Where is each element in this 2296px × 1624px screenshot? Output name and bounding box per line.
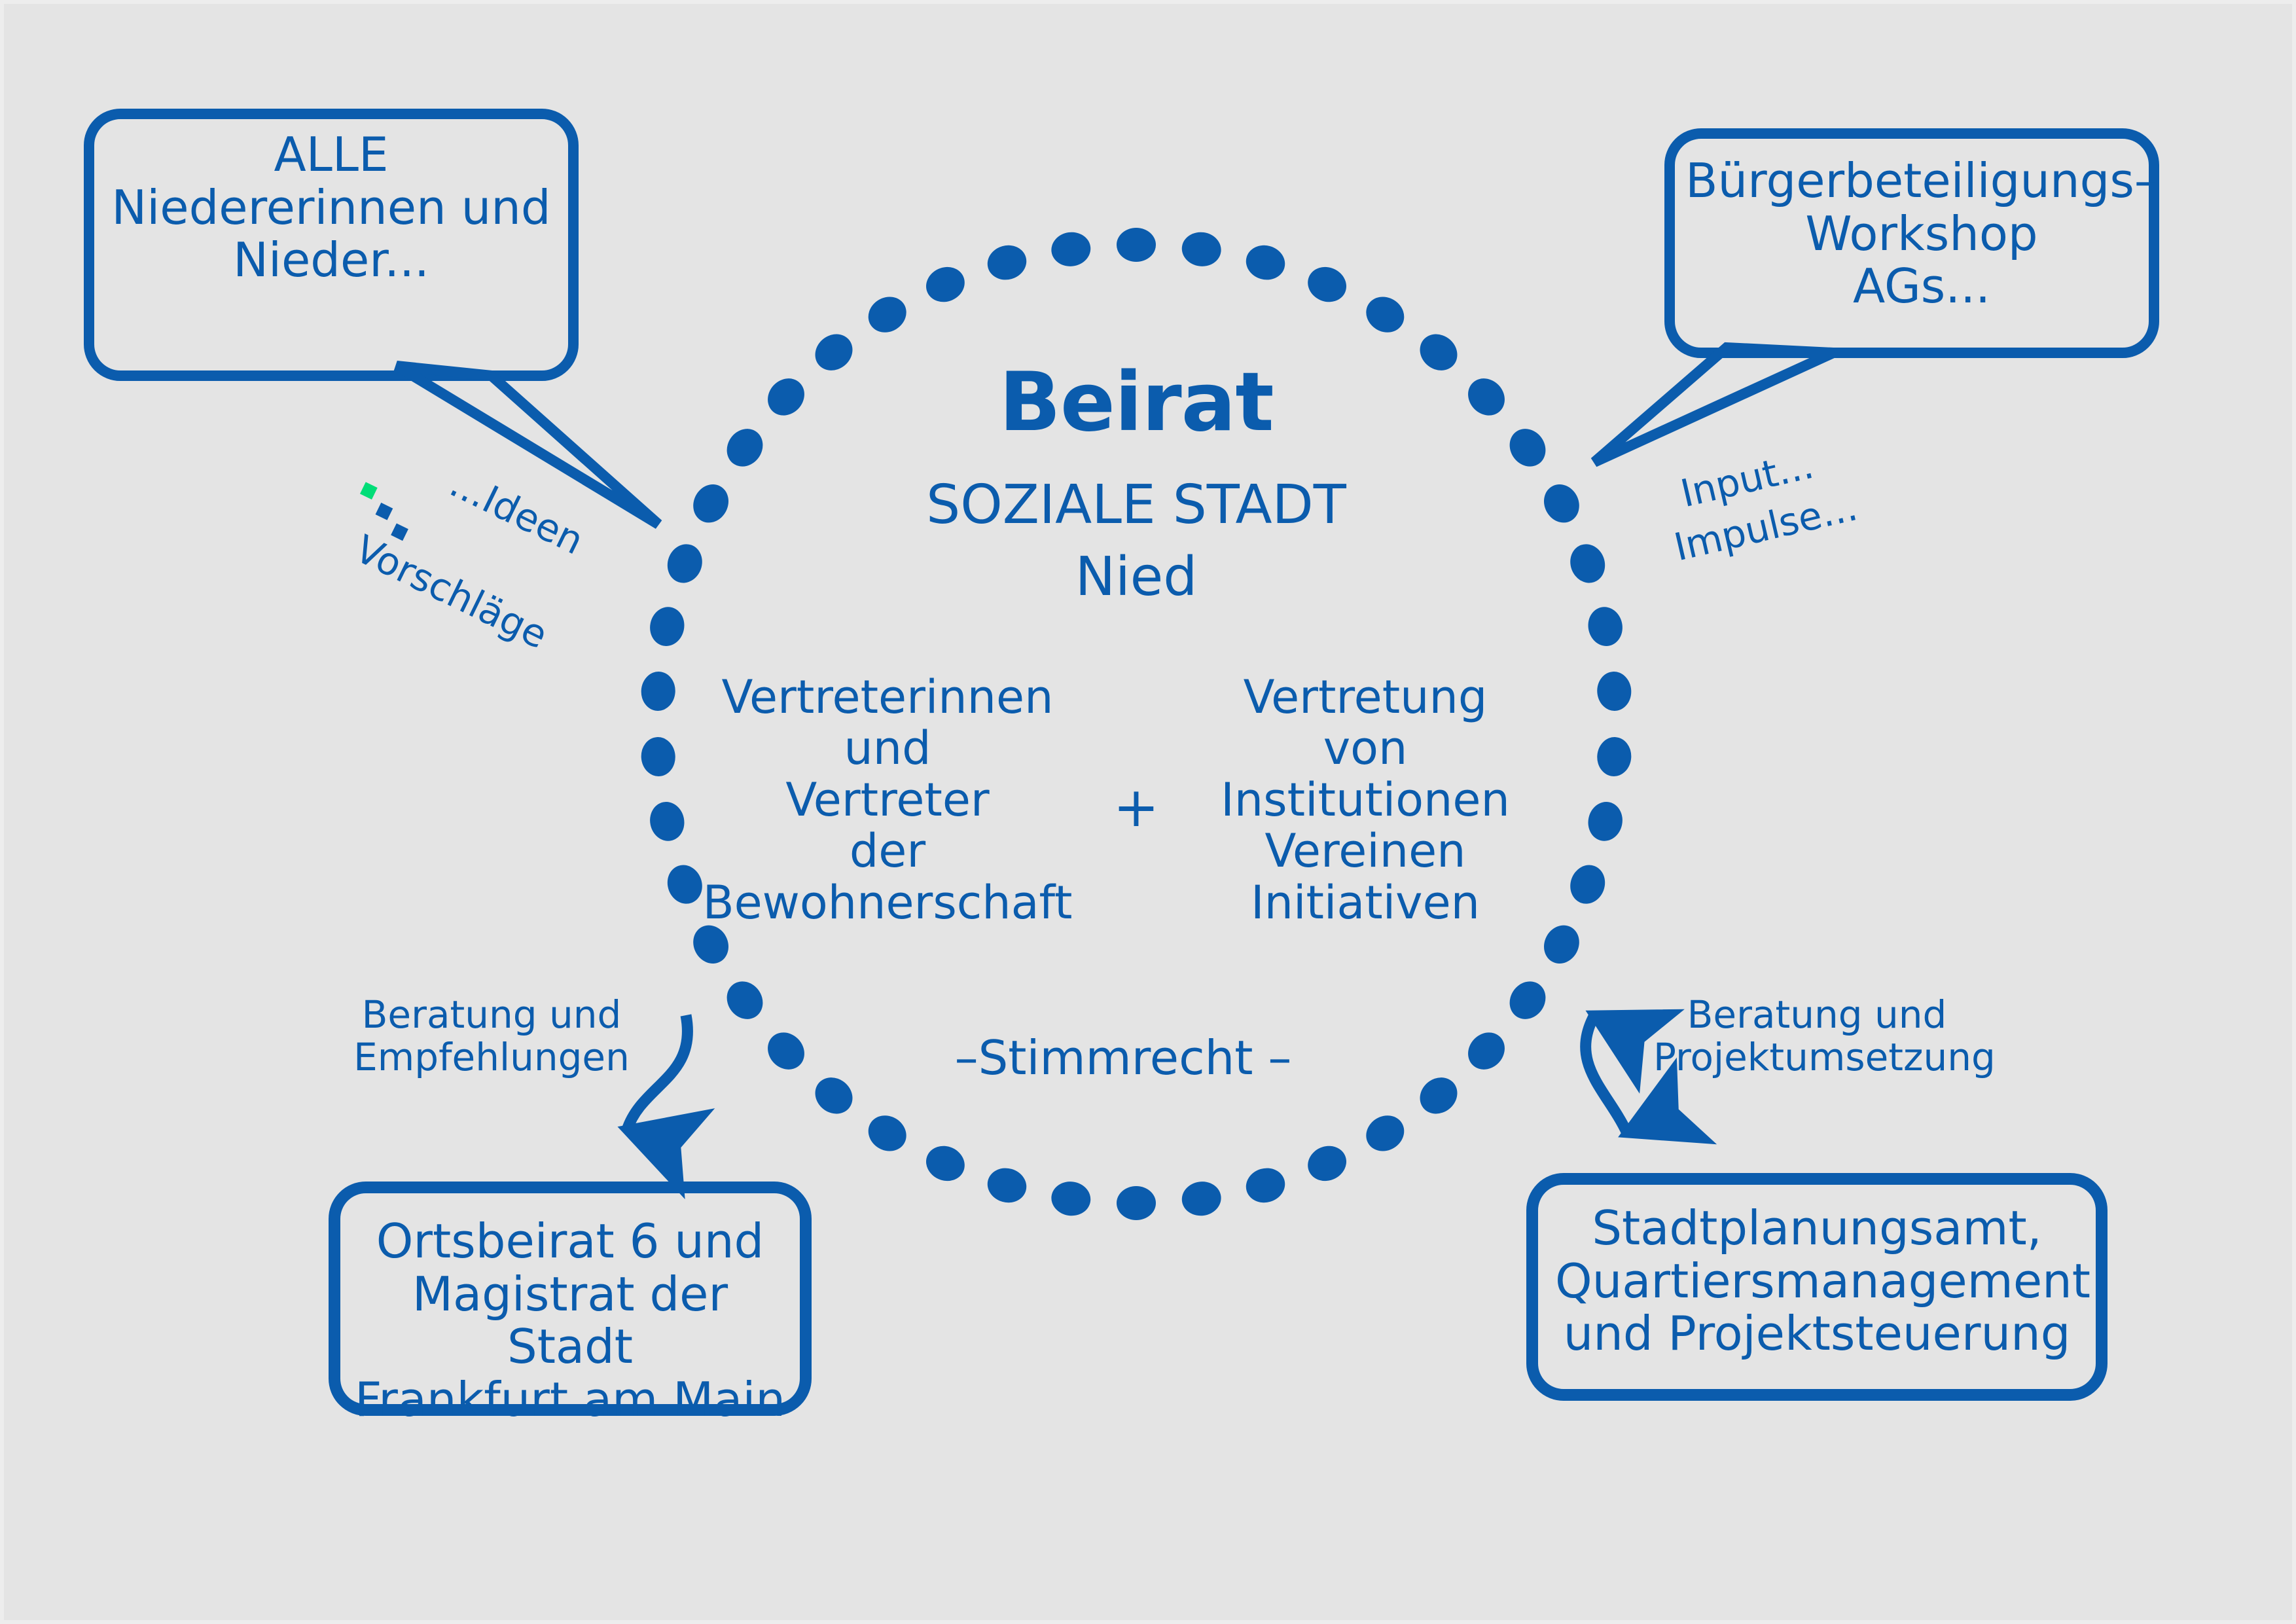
ring-dot [984, 1164, 1031, 1207]
annotation-beratung-empfehlungen: Beratung und Empfehlungen [351, 994, 632, 1079]
ring-dot [1179, 230, 1223, 269]
ring-dot [1242, 241, 1289, 284]
ring-dot [647, 604, 688, 649]
ring-dot [761, 1025, 812, 1077]
ring-dot [1412, 1070, 1464, 1121]
circle-subtitle-line1: SOZIALE STADT [809, 475, 1463, 535]
ring-dot [719, 422, 770, 473]
ring-dot [1565, 539, 1610, 588]
ring-dot [1117, 1186, 1156, 1220]
ring-dot [1242, 1164, 1289, 1207]
ring-dot [1049, 230, 1093, 269]
ring-dot [1461, 371, 1513, 423]
ring-dot [1049, 1179, 1093, 1218]
ring-dot [1502, 422, 1552, 473]
ring-dot [640, 736, 677, 777]
ring-dot [687, 478, 735, 529]
ring-dot [640, 670, 677, 712]
arrow-beratung-empfehlungen [627, 1015, 687, 1130]
ring-dot [761, 371, 812, 423]
ring-dot [862, 290, 913, 340]
arrow-beratung-projektumsetzung [1586, 1015, 1627, 1133]
circle-title: Beirat [809, 357, 1463, 448]
ring-dot [1302, 1140, 1352, 1187]
ring-dot [1117, 228, 1156, 262]
circle-footer-stimmrecht: –Stimmrecht – [920, 1032, 1326, 1085]
ring-dot [1461, 1025, 1513, 1077]
ring-dot [647, 799, 688, 844]
ring-dot [719, 975, 770, 1026]
ring-dot [984, 241, 1031, 284]
ring-dot [1359, 290, 1410, 340]
circle-column-right: Vertretung von Institutionen Vereinen In… [1202, 672, 1529, 928]
ring-dot [1502, 975, 1552, 1026]
ring-dot [921, 261, 971, 308]
ring-dot [1537, 478, 1586, 529]
ring-dot [1302, 261, 1352, 308]
circle-column-left: Vertreterinnen und Vertreter der Bewohne… [698, 672, 1077, 928]
ring-dot [1359, 1109, 1410, 1159]
ring-dot [1565, 860, 1610, 909]
diagram-canvas: ALLE Niedererinnen und Nieder... Bürgerb… [0, 0, 2296, 1624]
ring-dot [862, 1109, 913, 1159]
vorschlaege-leading-dots [350, 482, 418, 541]
ring-dot [662, 539, 708, 588]
ring-dot [921, 1140, 971, 1187]
ring-dot [1585, 799, 1626, 844]
annotation-beratung-projektumsetzung: Beratung und Projektumsetzung [1653, 994, 1981, 1079]
box-bottom-left-label: Ortsbeirat 6 und Magistrat der Stadt Fra… [351, 1215, 789, 1426]
ring-dot [1585, 604, 1626, 649]
plus-sign: + [1090, 776, 1182, 838]
ring-dot [1537, 919, 1586, 969]
ring-dot [1596, 670, 1632, 712]
ring-dot [808, 1070, 859, 1121]
box-bottom-right-label: Stadtplanungsamt, Quartiersmanagement un… [1555, 1202, 2079, 1360]
ring-dot [1179, 1179, 1223, 1218]
speech-bubble-top-left-label: ALLE Niedererinnen und Nieder... [96, 128, 567, 287]
circle-subtitle-line2: Nied [809, 547, 1463, 607]
speech-bubble-top-right-label: Bürgerbeteiligungs– Workshop AGs... [1679, 154, 2164, 313]
ring-dot [1596, 736, 1632, 777]
